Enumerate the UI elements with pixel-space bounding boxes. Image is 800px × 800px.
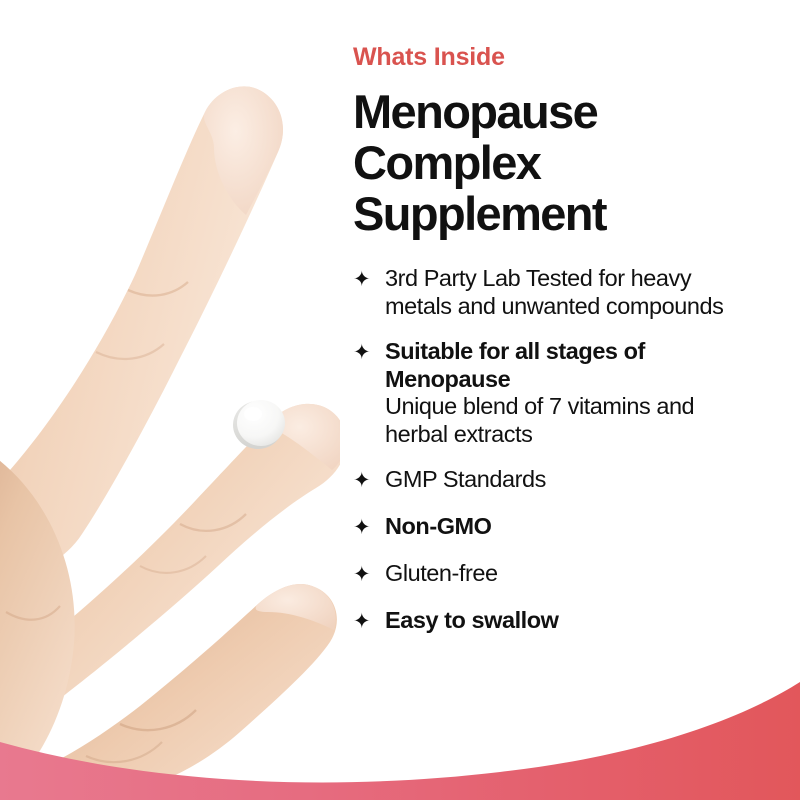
sparkle-bullet-icon: ✦ <box>353 265 385 294</box>
page-title: Menopause Complex Supplement <box>353 86 753 240</box>
feature-text: Easy to swallow <box>385 607 753 634</box>
feature-text: Gluten-free <box>385 560 753 587</box>
list-item: ✦ Gluten-free <box>353 560 753 589</box>
list-item: ✦ 3rd Party Lab Tested for heavy metals … <box>353 265 753 320</box>
hand-holding-pill-photo <box>0 0 340 800</box>
feature-lead: Easy to swallow <box>385 607 753 634</box>
feature-subtext: Unique blend of 7 vitamins and herbal ex… <box>385 393 753 448</box>
feature-text: Non-GMO <box>385 513 753 540</box>
product-feature-card: Whats Inside Menopause Complex Supplemen… <box>0 0 800 800</box>
sparkle-bullet-icon: ✦ <box>353 466 385 495</box>
sparkle-bullet-icon: ✦ <box>353 338 385 367</box>
list-item: ✦ GMP Standards <box>353 466 753 495</box>
list-item: ✦ Suitable for all stages of Menopause U… <box>353 338 753 448</box>
feature-lead: GMP Standards <box>385 466 753 493</box>
feature-lead: Gluten-free <box>385 560 753 587</box>
sparkle-bullet-icon: ✦ <box>353 513 385 542</box>
feature-lead: Suitable for all stages of Menopause <box>385 338 753 393</box>
sparkle-bullet-icon: ✦ <box>353 607 385 636</box>
eyebrow-label: Whats Inside <box>353 44 753 72</box>
feature-text: GMP Standards <box>385 466 753 493</box>
list-item: ✦ Easy to swallow <box>353 607 753 636</box>
feature-text: 3rd Party Lab Tested for heavy metals an… <box>385 265 753 320</box>
feature-lead: Non-GMO <box>385 513 753 540</box>
feature-lead: 3rd Party Lab Tested for heavy metals an… <box>385 265 753 320</box>
feature-list: ✦ 3rd Party Lab Tested for heavy metals … <box>353 265 753 636</box>
text-column: Whats Inside Menopause Complex Supplemen… <box>353 44 753 654</box>
list-item: ✦ Non-GMO <box>353 513 753 542</box>
feature-text: Suitable for all stages of Menopause Uni… <box>385 338 753 448</box>
sparkle-bullet-icon: ✦ <box>353 560 385 589</box>
